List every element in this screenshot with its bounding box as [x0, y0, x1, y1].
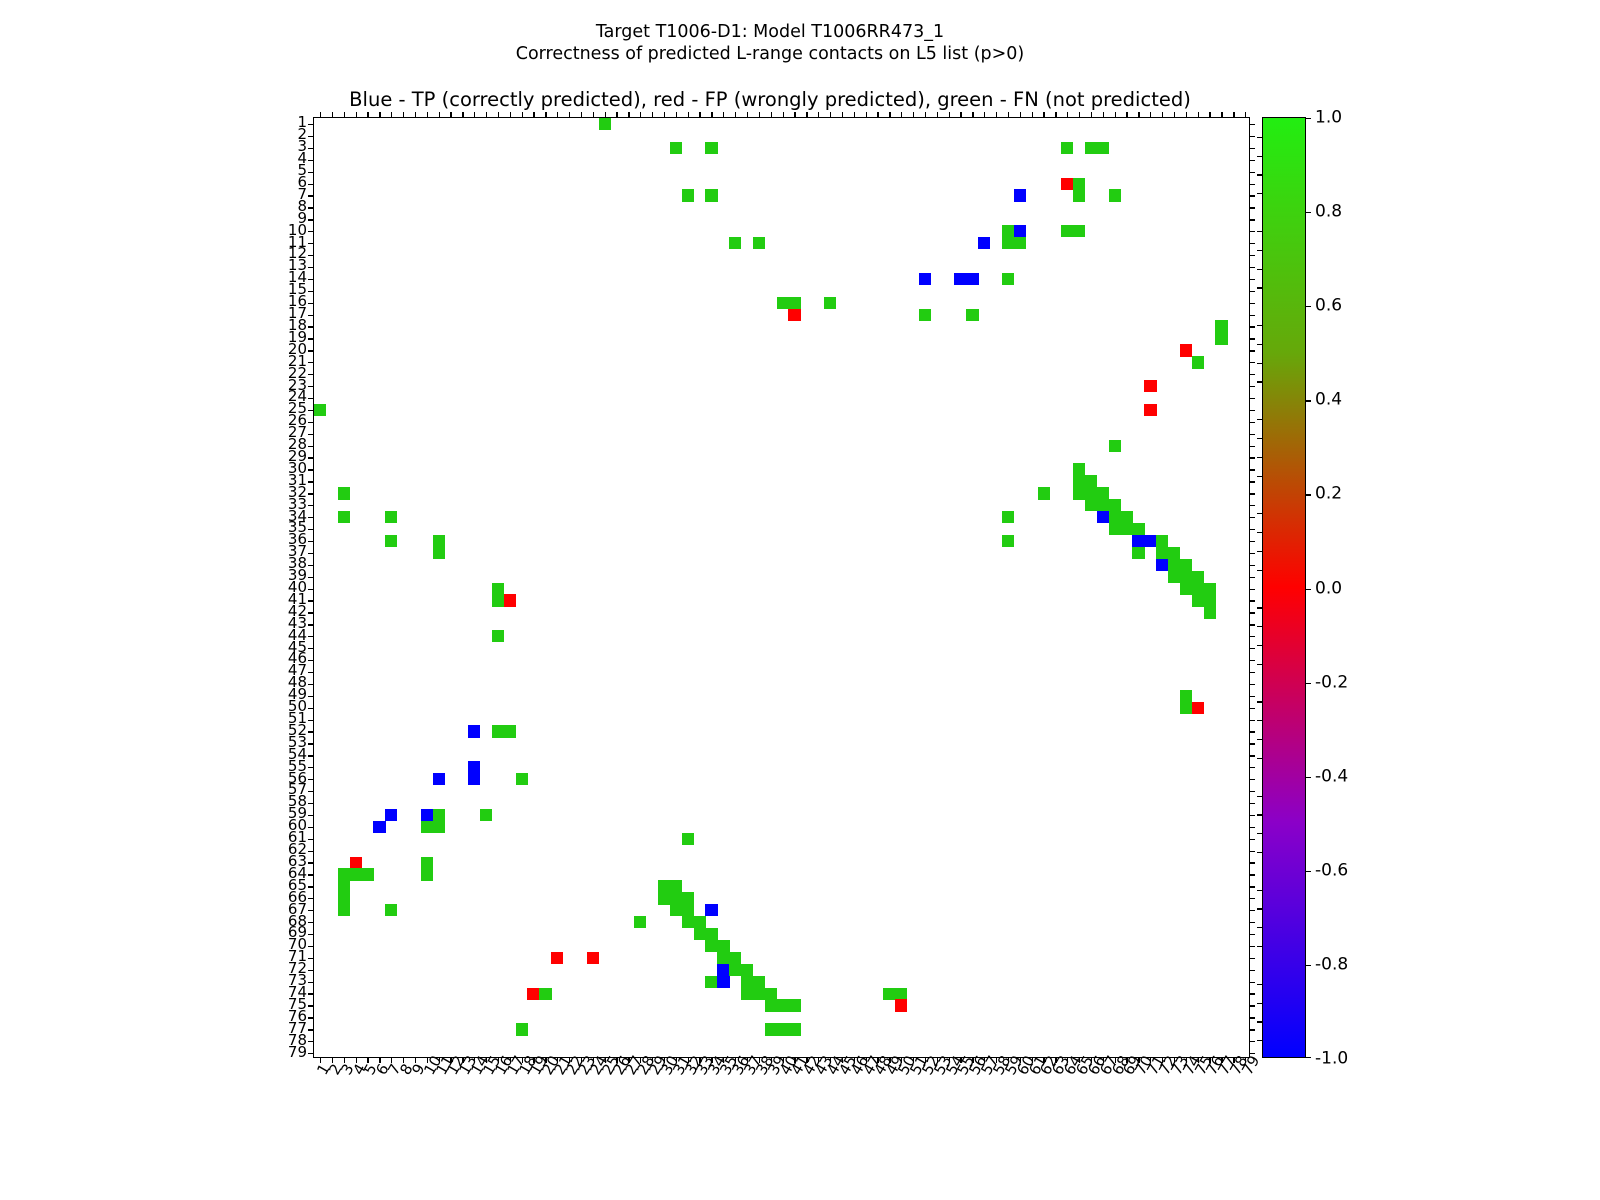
- figure-title-line1: Target T1006-D1: Model T1006RR473_1: [0, 22, 1540, 42]
- y-axis-tick: [308, 970, 314, 971]
- contact-cell-fn: [1156, 535, 1168, 547]
- y-axis-tick-right: [1249, 624, 1255, 625]
- x-axis-tick-top: [332, 112, 333, 118]
- y-axis-tick-right: [1249, 1017, 1255, 1018]
- y-axis-tick: [308, 803, 314, 804]
- contact-cell-fn: [492, 583, 504, 595]
- colorbar-tick: [1305, 589, 1311, 590]
- y-axis-tick-right: [1249, 207, 1255, 208]
- contact-map-plot-area[interactable]: [313, 117, 1250, 1058]
- y-axis-tick: [308, 303, 314, 304]
- contact-cell-fn: [777, 297, 789, 309]
- colorbar-minor-tick: [1257, 645, 1263, 646]
- x-axis-tick-top: [854, 112, 855, 118]
- contact-cell-tp: [421, 809, 433, 821]
- x-axis-tick-top: [486, 112, 487, 118]
- y-axis-tick-right: [1249, 148, 1255, 149]
- y-axis-tick: [308, 255, 314, 256]
- x-axis-tick-top: [581, 112, 582, 118]
- contact-cell-fn: [492, 725, 504, 737]
- y-axis-tick: [308, 779, 314, 780]
- contact-cell-fn: [1085, 487, 1097, 499]
- y-axis-tick-right: [1249, 172, 1255, 173]
- contact-cell-fn: [682, 904, 694, 916]
- y-axis-tick: [308, 434, 314, 435]
- colorbar-minor-tick: [1257, 137, 1263, 138]
- x-axis-tick-top: [498, 112, 499, 118]
- contact-cell-fn: [919, 309, 931, 321]
- y-axis-tick: [308, 279, 314, 280]
- y-axis-tick-right: [1249, 648, 1255, 649]
- x-axis-tick-top: [1043, 112, 1044, 118]
- colorbar-minor-tick: [1257, 1040, 1263, 1041]
- x-axis-tick-top: [344, 112, 345, 118]
- x-axis-tick-top: [783, 112, 784, 118]
- y-axis-tick: [308, 505, 314, 506]
- contact-cell-fn: [670, 904, 682, 916]
- y-axis-tick-right: [1249, 779, 1255, 780]
- y-axis-tick: [308, 184, 314, 185]
- y-axis-tick-right: [1249, 755, 1255, 756]
- contact-cell-fn: [385, 511, 397, 523]
- contact-cell-fn: [1097, 142, 1109, 154]
- contact-cell-tp: [468, 773, 480, 785]
- x-axis-tick-top: [1198, 112, 1199, 118]
- y-axis-tick: [308, 160, 314, 161]
- contact-cell-fn: [539, 988, 551, 1000]
- y-axis-tick: [308, 291, 314, 292]
- contact-cell-fn: [895, 988, 907, 1000]
- colorbar-minor-tick: [1257, 419, 1263, 420]
- colorbar-tick: [1305, 1057, 1311, 1058]
- colorbar-minor-tick: [1257, 927, 1263, 928]
- x-axis-tick-top: [1115, 112, 1116, 118]
- contact-cell-tp: [966, 273, 978, 285]
- x-axis-tick-top: [1221, 112, 1222, 118]
- y-axis-tick-right: [1249, 124, 1255, 125]
- x-axis-tick-top: [1067, 112, 1068, 118]
- colorbar-minor-tick: [1257, 513, 1263, 514]
- y-axis-tick-right: [1249, 410, 1255, 411]
- y-axis-tick-right: [1249, 565, 1255, 566]
- contact-cell-fn: [1097, 487, 1109, 499]
- colorbar-minor-tick: [1257, 946, 1263, 947]
- colorbar-tick-label: -0.6: [1315, 862, 1348, 879]
- x-axis-tick-top: [1174, 112, 1175, 118]
- y-axis-tick: [308, 946, 314, 947]
- contact-cell-fn: [717, 940, 729, 952]
- contact-cell-fn: [682, 916, 694, 928]
- colorbar-tick-label: -1.0: [1315, 1051, 1348, 1068]
- contact-cell-tp: [1014, 189, 1026, 201]
- colorbar-minor-tick: [1257, 607, 1263, 608]
- y-axis-tick-right: [1249, 862, 1255, 863]
- contact-cell-fn: [788, 999, 800, 1011]
- y-axis-tick: [308, 743, 314, 744]
- y-axis-tick-right: [1249, 934, 1255, 935]
- x-axis-tick-top: [379, 112, 380, 118]
- y-axis-tick-right: [1249, 731, 1255, 732]
- y-axis-tick-right: [1249, 708, 1255, 709]
- contact-cell-fn: [705, 142, 717, 154]
- contact-cell-fn: [694, 928, 706, 940]
- y-axis-tick-right: [1249, 660, 1255, 661]
- y-axis-tick: [308, 219, 314, 220]
- y-axis-tick-right: [1249, 886, 1255, 887]
- x-axis-tick-top: [913, 112, 914, 118]
- colorbar-minor-tick: [1257, 325, 1263, 326]
- contact-cell-fn: [1180, 559, 1192, 571]
- y-axis-tick: [308, 684, 314, 685]
- y-axis-tick-right: [1249, 982, 1255, 983]
- contact-cell-fp: [1192, 702, 1204, 714]
- colorbar-minor-tick: [1257, 250, 1263, 251]
- y-axis-tick: [308, 565, 314, 566]
- y-axis-tick-right: [1249, 481, 1255, 482]
- contact-map-cells: [314, 118, 1249, 1057]
- y-axis-tick-right: [1249, 279, 1255, 280]
- y-axis-tick: [308, 1041, 314, 1042]
- y-axis-tick: [308, 315, 314, 316]
- x-axis-tick-top: [628, 112, 629, 118]
- contact-map-figure: Target T1006-D1: Model T1006RR473_1 Corr…: [0, 0, 1600, 1200]
- contact-cell-fn: [1132, 547, 1144, 559]
- colorbar-minor-tick: [1257, 344, 1263, 345]
- contact-cell-fn: [1002, 237, 1014, 249]
- y-axis-tick: [308, 553, 314, 554]
- contact-cell-fn: [1097, 499, 1109, 511]
- y-axis-tick: [308, 136, 314, 137]
- x-axis-tick-top: [1186, 112, 1187, 118]
- contact-cell-fn: [385, 535, 397, 547]
- colorbar-minor-tick: [1257, 908, 1263, 909]
- colorbar-minor-tick: [1257, 814, 1263, 815]
- x-axis-tick-top: [545, 112, 546, 118]
- contact-cell-fn: [338, 511, 350, 523]
- contact-cell-fn: [883, 988, 895, 1000]
- contact-cell-fn: [682, 189, 694, 201]
- contact-cell-fn: [338, 868, 350, 880]
- y-axis-tick-right: [1249, 851, 1255, 852]
- contact-cell-fn: [1132, 523, 1144, 535]
- colorbar-tick-label: 0.2: [1315, 486, 1342, 503]
- colorbar-minor-tick: [1257, 852, 1263, 853]
- x-axis-tick-top: [640, 112, 641, 118]
- contact-cell-fn: [1121, 523, 1133, 535]
- x-axis-tick-top: [605, 112, 606, 118]
- y-axis-tick: [308, 1005, 314, 1006]
- y-axis-tick: [308, 422, 314, 423]
- y-axis-tick: [308, 1017, 314, 1018]
- contact-cell-fn: [1204, 594, 1216, 606]
- x-axis-tick-top: [522, 112, 523, 118]
- x-axis-tick-top: [960, 112, 961, 118]
- x-axis-tick-top: [747, 112, 748, 118]
- x-axis-tick-top: [972, 112, 973, 118]
- contact-cell-fn: [1192, 571, 1204, 583]
- y-axis-tick: [308, 410, 314, 411]
- y-axis-tick: [308, 386, 314, 387]
- y-axis-tick: [308, 469, 314, 470]
- y-axis-tick: [308, 910, 314, 911]
- contact-cell-fn: [670, 892, 682, 904]
- y-axis-tick: [308, 589, 314, 590]
- contact-cell-fn: [350, 868, 362, 880]
- contact-cell-fp: [1144, 380, 1156, 392]
- y-axis-tick-right: [1249, 898, 1255, 899]
- contact-cell-tp: [1144, 535, 1156, 547]
- colorbar-tick: [1305, 118, 1311, 119]
- x-axis-tick-top: [462, 112, 463, 118]
- x-axis-tick-top: [759, 112, 760, 118]
- colorbar-minor-tick: [1257, 532, 1263, 533]
- x-axis-tick-top: [439, 112, 440, 118]
- colorbar-minor-tick: [1257, 551, 1263, 552]
- contact-cell-fp: [788, 309, 800, 321]
- contact-cell-fp: [1144, 404, 1156, 416]
- y-axis-tick-right: [1249, 517, 1255, 518]
- contact-cell-fn: [492, 630, 504, 642]
- contact-cell-fn: [705, 928, 717, 940]
- y-axis-tick-right: [1249, 326, 1255, 327]
- y-axis-tick-right: [1249, 529, 1255, 530]
- y-axis-tick-right: [1249, 350, 1255, 351]
- y-axis-tick: [308, 541, 314, 542]
- contact-cell-fn: [1073, 178, 1085, 190]
- y-axis-tick-right: [1249, 374, 1255, 375]
- contact-cell-fn: [1204, 583, 1216, 595]
- x-axis-tick-top: [842, 112, 843, 118]
- y-axis-tick: [308, 982, 314, 983]
- colorbar-minor-tick: [1257, 381, 1263, 382]
- x-axis-tick-top: [794, 112, 795, 118]
- contact-cell-fn: [1180, 690, 1192, 702]
- contact-cell-fn: [1168, 547, 1180, 559]
- y-axis-tick-right: [1249, 874, 1255, 875]
- y-axis-tick-right: [1249, 946, 1255, 947]
- y-axis-tick: [308, 600, 314, 601]
- colorbar-minor-tick: [1257, 156, 1263, 157]
- x-axis-labels: 1234567891011121314151617181920212223242…: [313, 1062, 1250, 1182]
- colorbar-minor-tick: [1257, 476, 1263, 477]
- x-axis-tick-top: [901, 112, 902, 118]
- x-axis-tick-top: [699, 112, 700, 118]
- y-axis-labels: 1234567891011121314151617181920212223242…: [265, 117, 307, 1058]
- y-axis-tick: [308, 362, 314, 363]
- y-axis-tick: [308, 898, 314, 899]
- contact-cell-fn: [777, 999, 789, 1011]
- colorbar-tick-label: -0.4: [1315, 768, 1348, 785]
- x-axis-tick-top: [616, 112, 617, 118]
- contact-cell-fn: [338, 904, 350, 916]
- contact-cell-tp: [717, 964, 729, 976]
- contact-cell-fn: [1085, 499, 1097, 511]
- y-axis-tick-right: [1249, 231, 1255, 232]
- y-axis-tick-label: 79: [267, 1045, 307, 1060]
- contact-cell-fn: [753, 237, 765, 249]
- y-axis-tick-right: [1249, 958, 1255, 959]
- x-axis-tick-top: [1162, 112, 1163, 118]
- colorbar-tick-label: 0.6: [1315, 298, 1342, 315]
- y-axis-tick-right: [1249, 243, 1255, 244]
- contact-cell-fn: [1002, 535, 1014, 547]
- x-axis-tick-top: [1126, 112, 1127, 118]
- y-axis-tick-right: [1249, 457, 1255, 458]
- x-axis-tick-top: [367, 112, 368, 118]
- y-axis-tick: [308, 243, 314, 244]
- contact-cell-fp: [1061, 178, 1073, 190]
- colorbar-tick-label: 0.8: [1315, 204, 1342, 221]
- colorbar-tick: [1305, 494, 1311, 495]
- contact-cell-fn: [658, 892, 670, 904]
- y-axis-tick-right: [1249, 303, 1255, 304]
- contact-cell-fn: [516, 1023, 528, 1035]
- y-axis-tick-right: [1249, 195, 1255, 196]
- y-axis-tick-right: [1249, 636, 1255, 637]
- contact-cell-fn: [1073, 475, 1085, 487]
- y-axis-tick-right: [1249, 993, 1255, 994]
- x-axis-tick-top: [1020, 112, 1021, 118]
- figure-legend-caption: Blue - TP (correctly predicted), red - F…: [0, 88, 1540, 111]
- contact-cell-fn: [433, 547, 445, 559]
- contact-cell-fn: [433, 535, 445, 547]
- y-axis-tick: [308, 529, 314, 530]
- contact-cell-fn: [1215, 320, 1227, 332]
- contact-cell-fn: [1192, 594, 1204, 606]
- y-axis-tick-right: [1249, 910, 1255, 911]
- y-axis-tick: [308, 374, 314, 375]
- x-axis-tick-top: [320, 112, 321, 118]
- contact-cell-fn: [729, 952, 741, 964]
- y-axis-tick-right: [1249, 743, 1255, 744]
- y-axis-tick: [308, 791, 314, 792]
- y-axis-tick-right: [1249, 267, 1255, 268]
- contact-cell-fn: [741, 988, 753, 1000]
- contact-cell-fn: [1121, 511, 1133, 523]
- contact-cell-fn: [1168, 571, 1180, 583]
- y-axis-tick: [308, 457, 314, 458]
- contact-cell-fn: [1073, 487, 1085, 499]
- contact-cell-fn: [741, 964, 753, 976]
- contact-cell-tp: [433, 773, 445, 785]
- colorbar-minor-tick: [1257, 701, 1263, 702]
- colorbar-minor-tick: [1257, 570, 1263, 571]
- y-axis-tick: [308, 195, 314, 196]
- y-axis-tick-right: [1249, 160, 1255, 161]
- colorbar[interactable]: 1.00.80.60.40.20.0-0.2-0.4-0.6-0.8-1.0: [1262, 117, 1306, 1058]
- colorbar-tick: [1305, 683, 1311, 684]
- contact-cell-fn: [338, 487, 350, 499]
- contact-cell-fn: [1156, 547, 1168, 559]
- contact-cell-fn: [777, 1023, 789, 1035]
- x-axis-tick-top: [427, 112, 428, 118]
- y-axis-tick: [308, 851, 314, 852]
- y-axis-tick: [308, 612, 314, 613]
- y-axis-tick-right: [1249, 696, 1255, 697]
- y-axis-tick: [308, 577, 314, 578]
- contact-cell-fn: [480, 809, 492, 821]
- contact-cell-tp: [919, 273, 931, 285]
- x-axis-tick-top: [1150, 112, 1151, 118]
- contact-cell-fn: [338, 892, 350, 904]
- colorbar-tick: [1305, 871, 1311, 872]
- contact-cell-fn: [1073, 463, 1085, 475]
- y-axis-tick-right: [1249, 767, 1255, 768]
- contact-cell-fn: [753, 988, 765, 1000]
- contact-cell-fn: [1085, 475, 1097, 487]
- x-axis-tick-top: [925, 112, 926, 118]
- contact-cell-tp: [954, 273, 966, 285]
- colorbar-tick: [1305, 306, 1311, 307]
- y-axis-tick-right: [1249, 612, 1255, 613]
- x-axis-tick-top: [593, 112, 594, 118]
- y-axis-tick-right: [1249, 219, 1255, 220]
- x-axis-tick-top: [1008, 112, 1009, 118]
- x-axis-tick-top: [1233, 112, 1234, 118]
- y-axis-tick: [308, 350, 314, 351]
- x-axis-tick-top: [1138, 112, 1139, 118]
- x-axis-tick-top: [510, 112, 511, 118]
- contact-cell-fn: [788, 1023, 800, 1035]
- y-axis-tick-right: [1249, 541, 1255, 542]
- x-axis-tick-top: [391, 112, 392, 118]
- contact-cell-fn: [966, 309, 978, 321]
- colorbar-minor-tick: [1257, 664, 1263, 665]
- y-axis-tick-right: [1249, 922, 1255, 923]
- y-axis-tick-right: [1249, 386, 1255, 387]
- contact-cell-fn: [1192, 583, 1204, 595]
- contact-cell-fp: [350, 857, 362, 869]
- y-axis-tick-right: [1249, 398, 1255, 399]
- contact-cell-fn: [1061, 225, 1073, 237]
- contact-cell-fp: [551, 952, 563, 964]
- contact-cell-fn: [1180, 702, 1192, 714]
- contact-cell-fn: [634, 916, 646, 928]
- contact-cell-fn: [765, 1023, 777, 1035]
- y-axis-tick: [308, 660, 314, 661]
- y-axis-tick-right: [1249, 970, 1255, 971]
- colorbar-tick: [1305, 212, 1311, 213]
- x-axis-tick-top: [735, 112, 736, 118]
- contact-cell-fn: [1002, 273, 1014, 285]
- y-axis-tick-right: [1249, 791, 1255, 792]
- contact-cell-fn: [729, 237, 741, 249]
- colorbar-minor-tick: [1257, 758, 1263, 759]
- y-axis-tick: [308, 446, 314, 447]
- contact-cell-fn: [433, 821, 445, 833]
- contact-cell-fn: [1109, 523, 1121, 535]
- contact-cell-fn: [694, 916, 706, 928]
- contact-cell-fn: [1002, 511, 1014, 523]
- x-axis-tick-top: [937, 112, 938, 118]
- y-axis-tick-right: [1249, 255, 1255, 256]
- contact-cell-fn: [1073, 225, 1085, 237]
- y-axis-tick: [308, 708, 314, 709]
- contact-cell-fn: [599, 118, 611, 130]
- x-axis-tick-top: [984, 112, 985, 118]
- y-axis-tick: [308, 922, 314, 923]
- colorbar-tick-label: 1.0: [1315, 110, 1342, 127]
- y-axis-tick: [308, 172, 314, 173]
- y-axis-tick: [308, 731, 314, 732]
- x-axis-tick-top: [866, 112, 867, 118]
- contact-cell-fn: [670, 880, 682, 892]
- colorbar-tick: [1305, 400, 1311, 401]
- contact-cell-tp: [1156, 559, 1168, 571]
- contact-cell-fn: [1215, 332, 1227, 344]
- y-axis-tick: [308, 862, 314, 863]
- contact-cell-tp: [385, 809, 397, 821]
